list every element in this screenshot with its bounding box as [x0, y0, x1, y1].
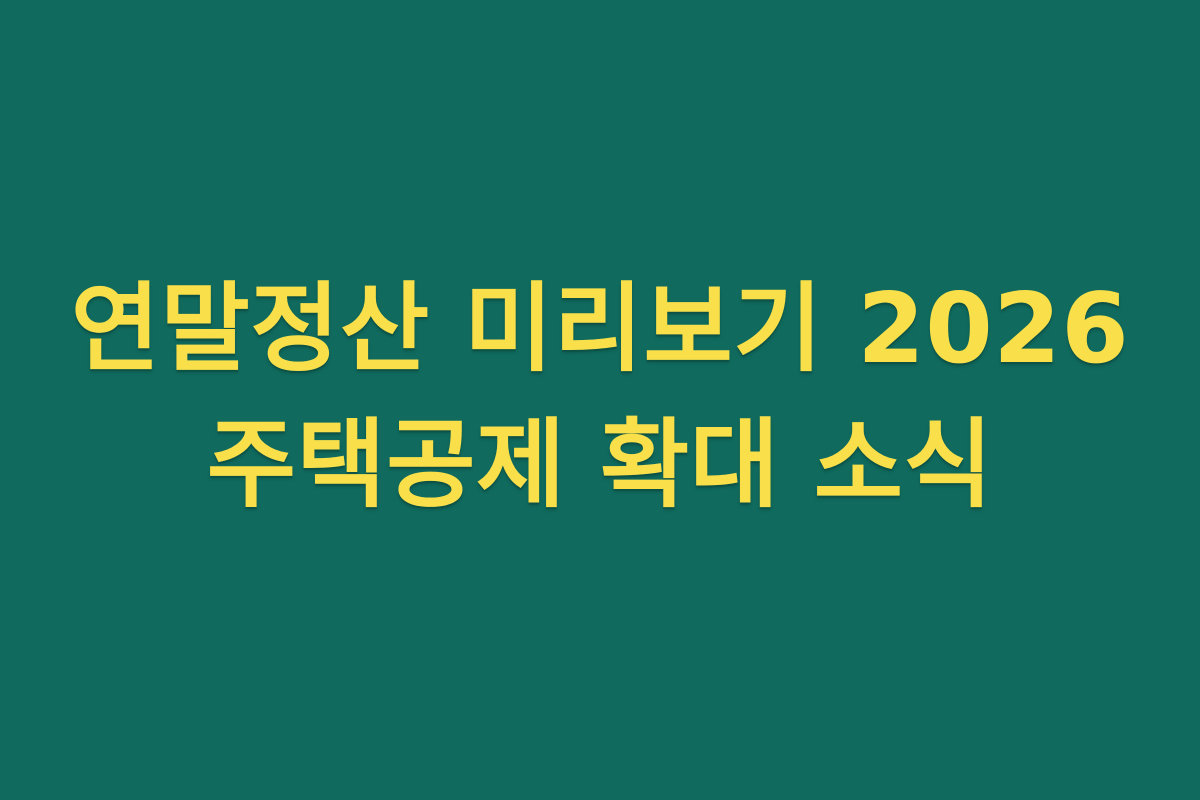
title-card-banner: 연말정산 미리보기 2026 주택공제 확대 소식: [0, 0, 1200, 800]
title-line-2: 주택공제 확대 소식: [0, 397, 1200, 533]
title-block: 연말정산 미리보기 2026 주택공제 확대 소식: [0, 261, 1200, 533]
title-line-1: 연말정산 미리보기 2026: [0, 261, 1200, 397]
